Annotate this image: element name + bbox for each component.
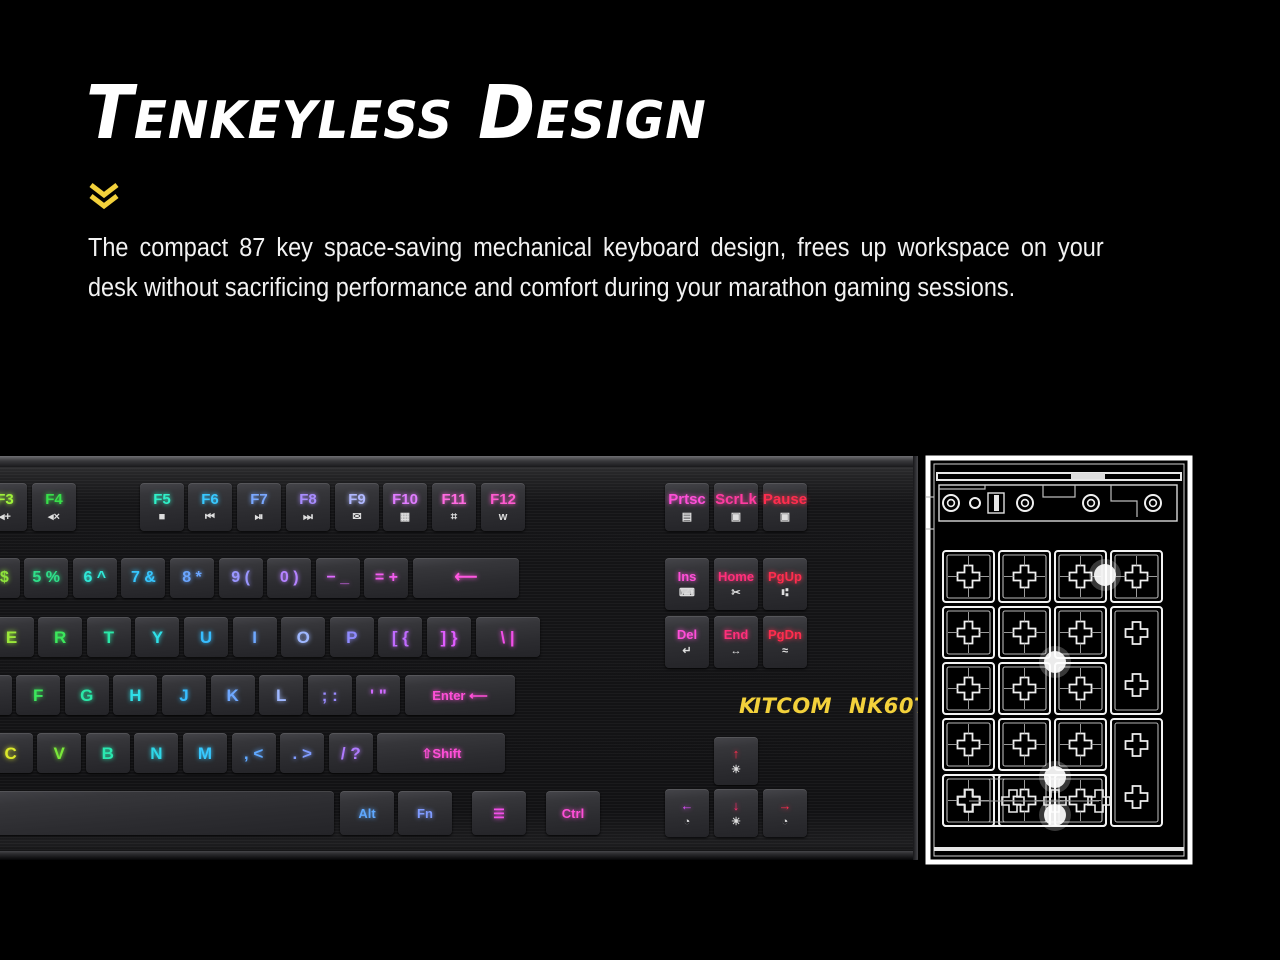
key-label: O	[297, 629, 310, 646]
key-f[interactable]: F	[16, 675, 60, 715]
key-label: 6 ^	[83, 570, 106, 586]
key-del[interactable]: Del↵	[665, 616, 709, 668]
key-prtsc[interactable]: Prtsc▤	[665, 483, 709, 531]
key-label: F	[33, 687, 43, 704]
key-num-7[interactable]: 0 )	[267, 558, 311, 598]
key-label: C	[4, 745, 16, 762]
key-secondary-icon: ⏮	[205, 512, 215, 523]
key-arrow-right[interactable]: →◔	[763, 789, 807, 837]
key-v[interactable]: V	[37, 733, 81, 773]
key-end[interactable]: End↔	[714, 616, 758, 668]
key-scrlk[interactable]: ScrLk▣	[714, 483, 758, 531]
key-label: Pause	[763, 492, 807, 507]
key-backlight-glow	[661, 553, 713, 616]
key-right-shift[interactable]: ⇧Shift	[377, 733, 505, 773]
key-backlight-glow	[710, 784, 762, 843]
key-label: ←	[681, 799, 694, 812]
key-label: ☰	[493, 807, 505, 820]
key-label: . >	[293, 745, 312, 762]
key-backlight-glow	[0, 670, 16, 721]
key-h[interactable]: H	[113, 675, 157, 715]
key-secondary-icon: ▦	[400, 512, 410, 523]
key-label: \ |	[500, 629, 514, 646]
key-d[interactable]: D	[0, 675, 12, 715]
key-f9[interactable]: F9✉	[335, 483, 379, 531]
key-arrow-left[interactable]: ←◔	[665, 789, 709, 837]
key-enter[interactable]: Enter ⟵	[405, 675, 515, 715]
feature-description: The compact 87 key space-saving mechanic…	[88, 228, 1104, 308]
key-label: P	[346, 629, 357, 646]
key-label: , <	[244, 745, 263, 762]
key-label: R	[54, 629, 66, 646]
key-space[interactable]	[0, 791, 334, 835]
key-y[interactable]: Y	[135, 617, 179, 657]
key-label: N	[150, 745, 162, 762]
double-chevron-down-icon	[88, 182, 122, 212]
key-f10[interactable]: F10▦	[383, 483, 427, 531]
key-label: Prtsc	[668, 492, 706, 507]
key-[ {[interactable]: [ {	[378, 617, 422, 657]
key-num-5[interactable]: 8 *	[170, 558, 214, 598]
key-f11[interactable]: F11⌗	[432, 483, 476, 531]
key-label: F6	[201, 492, 219, 507]
key-label: F11	[441, 492, 466, 507]
key-arrow-up[interactable]: ↑☀	[714, 737, 758, 785]
key-secondary-icon: ☀	[731, 765, 741, 776]
key-l[interactable]: L	[259, 675, 303, 715]
key-secondary-icon: ⏯	[255, 512, 264, 523]
keyboard-bottom-bevel	[0, 851, 922, 860]
key-arrow-down[interactable]: ↓☀	[714, 789, 758, 837]
key-, <[interactable]: , <	[232, 733, 276, 773]
key-label: = +	[375, 570, 398, 586]
key-secondary-icon: ▣	[731, 512, 741, 523]
key-pgdn[interactable]: PgDn≈	[763, 616, 807, 668]
key-; :[interactable]: ; :	[308, 675, 352, 715]
key-label: / ?	[341, 745, 361, 762]
key-. >[interactable]: . >	[280, 733, 324, 773]
key-c[interactable]: C	[0, 733, 33, 773]
key-secondary-icon: ◂×	[48, 512, 60, 523]
key-secondary-icon: ◂+	[0, 512, 11, 523]
key-secondary-icon: ↵	[682, 646, 691, 657]
key-ins[interactable]: Ins⌨	[665, 558, 709, 610]
key-m[interactable]: M	[183, 733, 227, 773]
key-label: V	[54, 745, 65, 762]
page-title: Tenkeyless Design	[86, 74, 707, 152]
key-label: F8	[299, 492, 317, 507]
key-num-9[interactable]: = +	[364, 558, 408, 598]
key-n[interactable]: N	[134, 733, 178, 773]
key-backspace[interactable]: ⟵	[413, 558, 519, 598]
key-label: Del	[677, 628, 697, 641]
key-label: ↑	[733, 747, 740, 760]
key-\ |[interactable]: \ |	[476, 617, 540, 657]
key-label: F9	[348, 492, 366, 507]
key-secondary-icon: ✉	[352, 512, 361, 523]
key-label: →	[779, 799, 792, 812]
key-backlight-glow	[661, 611, 713, 674]
key-menu[interactable]: ☰	[472, 791, 526, 835]
key-label: B	[102, 745, 114, 762]
key-secondary-icon: ᴡ	[499, 512, 508, 523]
key-label: [ {	[392, 629, 409, 646]
key-label: T	[104, 629, 114, 646]
key-label: 7 &	[131, 570, 156, 586]
key-num-1[interactable]: 4 $	[0, 558, 20, 598]
key-label: Ctrl	[562, 807, 584, 820]
key-secondary-icon: ⌗	[451, 512, 457, 523]
brand-model: NK60T	[849, 694, 922, 718]
key-label: Y	[152, 629, 163, 646]
key-e[interactable]: E	[0, 617, 34, 657]
key-num-3[interactable]: 6 ^	[73, 558, 117, 598]
key-' "[interactable]: ' "	[356, 675, 400, 715]
key-backlight-glow	[710, 732, 762, 791]
key-f6[interactable]: F6⏮	[188, 483, 232, 531]
key-num-6[interactable]: 9 (	[219, 558, 263, 598]
key-backlight-glow	[710, 611, 762, 674]
key-label: Fn	[417, 807, 433, 820]
key-secondary-icon: ▤	[682, 512, 692, 523]
key-label: Home	[718, 570, 754, 583]
keyboard-top-bevel	[0, 456, 922, 467]
key-num-8[interactable]: − _	[316, 558, 360, 598]
key-i[interactable]: I	[233, 617, 277, 657]
key-/ ?[interactable]: / ?	[329, 733, 373, 773]
key-backlight-glow	[759, 611, 811, 674]
key-label: ' "	[370, 687, 387, 704]
key-backlight-glow	[759, 553, 811, 616]
key-secondary-icon: ⏭	[303, 512, 313, 523]
key-label: PgUp	[768, 570, 802, 583]
key-label: F3	[0, 492, 14, 507]
key-home[interactable]: Home✂	[714, 558, 758, 610]
key-label: G	[80, 687, 93, 704]
key-label: PgDn	[768, 628, 802, 641]
key-label: F4	[45, 492, 63, 507]
key-label: ⟵	[455, 570, 478, 586]
key-label: 0 )	[280, 570, 299, 586]
keyboard-photo: F2◂−F3◂+F4◂×F5■F6⏮F7⏯F8⏭F9✉F10▦F11⌗F12ᴡP…	[0, 456, 922, 860]
key-secondary-icon: ▣	[780, 512, 790, 523]
key-label: F5	[153, 492, 171, 507]
brand-mark: K	[739, 694, 752, 718]
key-j[interactable]: J	[162, 675, 206, 715]
key-label: ] }	[441, 629, 458, 646]
key-label: 4 $	[0, 570, 9, 586]
key-backlight-glow	[759, 784, 811, 843]
key-label: Enter ⟵	[432, 689, 487, 702]
key-label: K	[226, 687, 238, 704]
product-feature-slide: Tenkeyless Design The compact 87 key spa…	[0, 0, 1280, 960]
key-label: L	[276, 687, 286, 704]
key-secondary-icon: ☀	[731, 817, 741, 828]
key-pgup[interactable]: PgUp⑆	[763, 558, 807, 610]
key-backlight-glow	[710, 553, 762, 616]
key-label: Alt	[358, 807, 375, 820]
key-secondary-icon: ✂	[731, 588, 740, 599]
key-p[interactable]: P	[330, 617, 374, 657]
key-label: 5 %	[32, 570, 60, 586]
key-num-4[interactable]: 7 &	[121, 558, 165, 598]
key-label: ⇧Shift	[422, 747, 462, 760]
key-label: E	[6, 629, 17, 646]
key-secondary-icon: ⌨	[679, 588, 695, 599]
key-label: Ins	[678, 570, 697, 583]
key-right-ctrl[interactable]: Ctrl	[546, 791, 600, 835]
key-f4[interactable]: F4◂×	[32, 483, 76, 531]
key-label: F7	[250, 492, 268, 507]
key-secondary-icon: ◔	[782, 817, 789, 828]
key-label: ↓	[733, 799, 740, 812]
key-f12[interactable]: F12ᴡ	[481, 483, 525, 531]
key-label: 8 *	[182, 570, 202, 586]
key-label: I	[252, 629, 257, 646]
key-f3[interactable]: F3◂+	[0, 483, 27, 531]
key-label: M	[198, 745, 212, 762]
brand-logo: KITCOM NK60T	[739, 694, 922, 718]
key-g[interactable]: G	[65, 675, 109, 715]
key-backlight-glow	[661, 784, 713, 843]
key-k[interactable]: K	[211, 675, 255, 715]
key-secondary-icon: ⑆	[782, 588, 789, 599]
key-label: F12	[490, 492, 516, 507]
key-label: 9 (	[231, 570, 250, 586]
key-t[interactable]: T	[87, 617, 131, 657]
key-b[interactable]: B	[86, 733, 130, 773]
key-o[interactable]: O	[281, 617, 325, 657]
key-u[interactable]: U	[184, 617, 228, 657]
key-secondary-icon: ■	[159, 512, 166, 523]
key-label: End	[724, 628, 749, 641]
key-label: F10	[392, 492, 418, 507]
key-f5[interactable]: F5■	[140, 483, 184, 531]
key-secondary-icon: ↔	[731, 646, 742, 657]
key-] }[interactable]: ] }	[427, 617, 471, 657]
key-num-2[interactable]: 5 %	[24, 558, 68, 598]
key-pause[interactable]: Pause▣	[763, 483, 807, 531]
key-label: ; :	[322, 687, 338, 704]
key-secondary-icon: ◔	[684, 817, 691, 828]
key-r[interactable]: R	[38, 617, 82, 657]
key-secondary-icon: ≈	[782, 646, 788, 657]
key-f7[interactable]: F7⏯	[237, 483, 281, 531]
key-f8[interactable]: F8⏭	[286, 483, 330, 531]
key-label: J	[179, 687, 188, 704]
key-label: ScrLk	[715, 492, 757, 507]
keyboard-plate-blueprint	[925, 455, 1195, 865]
key-backlight-glow	[0, 786, 338, 841]
brand-name: ITCOM	[753, 694, 832, 718]
key-label: − _	[326, 570, 349, 586]
key-label: H	[129, 687, 141, 704]
key-right-alt[interactable]: Alt	[340, 791, 394, 835]
key-label: U	[200, 629, 212, 646]
key-fn[interactable]: Fn	[398, 791, 452, 835]
